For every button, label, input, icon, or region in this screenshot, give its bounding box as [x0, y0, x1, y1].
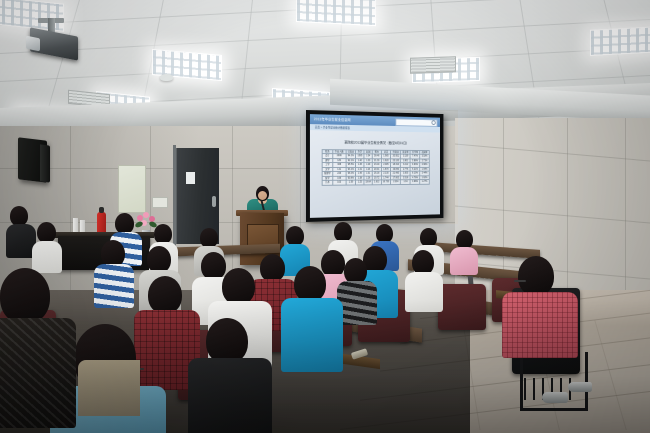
attendee-shoe-2 [568, 382, 592, 392]
attendee-head [260, 254, 285, 282]
slide-table-cell: 2.204 [391, 180, 401, 184]
attendee-torso [502, 292, 578, 358]
projected-slide: 2013年毕业生就业信息网 首页 > 毕业生就业统计数据报表 某院校2013届毕… [310, 114, 440, 218]
attendee-head [294, 266, 326, 302]
attendee-head [321, 250, 345, 277]
ceiling-light-3 [590, 26, 650, 56]
smoke-detector-icon [160, 74, 173, 81]
slide-table-cell: 1.27% [420, 180, 429, 184]
wall-plate [152, 197, 168, 208]
slide-site-title: 2013年毕业生就业信息网 [314, 116, 351, 122]
slide-table-body: 合计208694.2%13951.3428.461.90520.9513.139… [322, 154, 429, 185]
attendee-torso [281, 298, 343, 372]
fire-extinguisher-nozzle [99, 207, 104, 213]
slide-table-cell: 16.730 [381, 180, 391, 184]
attendee-torso [188, 358, 272, 433]
eyeglasses-icon [514, 280, 526, 282]
lecture-chair-4[interactable] [438, 284, 486, 330]
wall-notice-panel [118, 165, 146, 213]
attendee-head [37, 222, 56, 243]
ceiling-vent-1 [410, 56, 456, 74]
presenter-face [258, 191, 267, 200]
attendee-torso [32, 241, 62, 273]
slide-table-cell: 1.612 [372, 180, 381, 184]
attendee-head [101, 240, 125, 267]
projector [22, 18, 80, 62]
attendee-shoe-1 [542, 392, 568, 403]
attendee-head [222, 268, 255, 305]
attendee-head [0, 268, 50, 324]
slide-table-cell: 3.98% [410, 180, 419, 184]
slide-table-row: 艺术1031.391.2518.641.61216.7302.2041.343.… [322, 180, 429, 185]
slide-breadcrumb: 首页 > 毕业生就业统计数据报表 [315, 125, 350, 130]
attendee-khaki-leg [78, 360, 140, 416]
attendee-torso [450, 247, 478, 275]
attendee-head [10, 206, 28, 226]
slide-data-table: 院系毕业人数已就业升学出国签约灵活待就业就业率升学率出国率 合计208694.2… [322, 149, 430, 186]
attendee-head [115, 213, 134, 234]
attendee-head [334, 222, 352, 242]
projector-lens-icon [26, 36, 40, 52]
attendee-head [154, 224, 172, 244]
slide-table-cell: 艺术 [322, 181, 332, 186]
attendee-torso [405, 272, 443, 312]
door-sign [186, 172, 195, 184]
slide-table-cell: 18.64 [364, 180, 373, 184]
wall-speaker-side [40, 144, 50, 182]
attendee-head [286, 226, 304, 246]
lecture-hall-photo: 2013年毕业生就业信息网 首页 > 毕业生就业统计数据报表 某院校2013届毕… [0, 0, 650, 433]
slide-table-cell: 1.39 [346, 180, 356, 184]
attendee-head [147, 246, 171, 273]
attendee-torso [94, 264, 134, 308]
door-handle-icon[interactable] [212, 196, 216, 207]
ceiling-light-2 [296, 0, 376, 26]
attendee-head [200, 228, 218, 248]
attendee-head [148, 276, 182, 314]
slide-table-cell: 1.25 [356, 180, 364, 184]
slide-table-cell: 1.34 [401, 180, 411, 184]
attendee-head [201, 252, 226, 280]
slide-heading: 某院校2013届毕业生就业情况（截至8月31日） [310, 139, 440, 146]
attendee-torso [337, 281, 377, 325]
projection-screen: 2013年毕业生就业信息网 首页 > 毕业生就业统计数据报表 某院校2013届毕… [306, 110, 443, 222]
slide-table-cell: 103 [333, 181, 346, 186]
attendee-head [518, 256, 554, 296]
attendee-torso [0, 318, 76, 428]
